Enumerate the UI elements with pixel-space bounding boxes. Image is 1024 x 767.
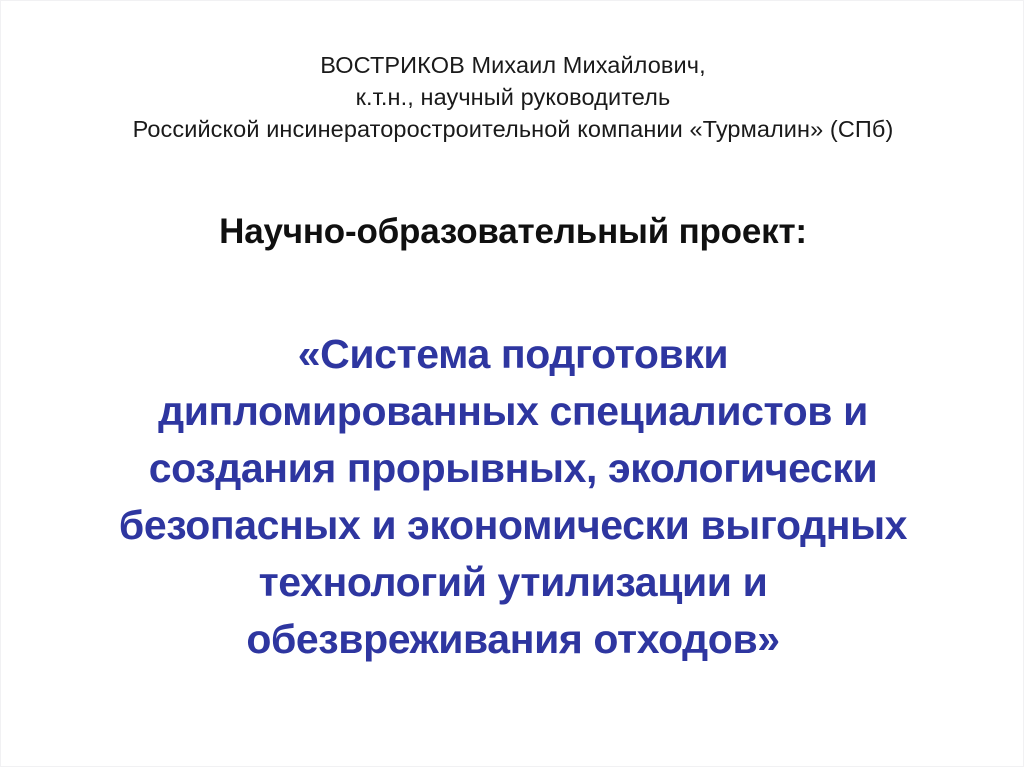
project-title-line-6: обезвреживания отходов» [1,611,1024,668]
project-title-block: «Система подготовки дипломированных спец… [1,326,1024,668]
presenter-info-block: ВОСТРИКОВ Михаил Михайлович, к.т.н., нау… [1,49,1024,145]
project-title-line-3: создания прорывных, экологически [1,440,1024,497]
project-title-line-2: дипломированных специалистов и [1,383,1024,440]
project-heading: Научно-образовательный проект: [1,210,1024,254]
presenter-affiliation: Российской инсинераторостроительной комп… [1,113,1024,145]
presenter-name: ВОСТРИКОВ Михаил Михайлович, [1,49,1024,81]
project-title-line-1: «Система подготовки [1,326,1024,383]
project-title-line-4: безопасных и экономически выгодных [1,497,1024,554]
project-title-line-5: технологий утилизации и [1,554,1024,611]
presentation-slide: ВОСТРИКОВ Михаил Михайлович, к.т.н., нау… [0,0,1024,767]
presenter-title: к.т.н., научный руководитель [1,81,1024,113]
